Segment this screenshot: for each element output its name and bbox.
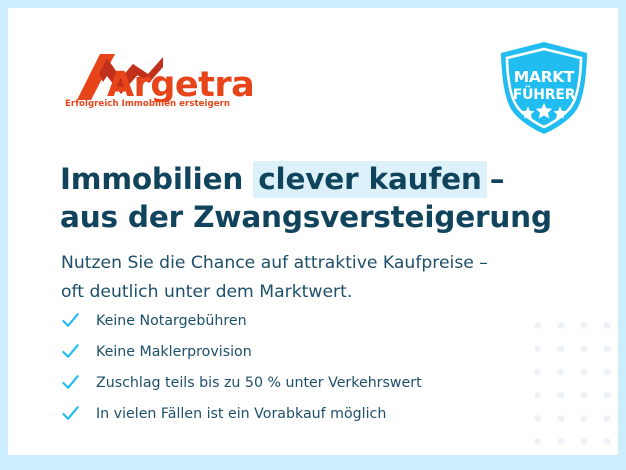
benefits-list: Keine Notargebühren Keine Maklerprovisio… <box>61 305 531 429</box>
promo-card: Argetra Erfolgreich Immobilien ersteiger… <box>8 8 618 455</box>
market-leader-badge: MARKT FÜHRER <box>497 40 591 136</box>
headline-suffix: – <box>487 162 505 196</box>
list-item: Keine Notargebühren <box>61 305 531 336</box>
list-item: In vielen Fällen ist ein Vorabkauf mögli… <box>61 398 531 429</box>
headline-line-2: aus der Zwangsversteigerung <box>60 198 580 236</box>
benefit-label: Keine Maklerprovision <box>96 344 252 360</box>
headline-highlight: clever kaufen <box>253 161 486 198</box>
check-icon <box>61 404 80 423</box>
subheadline-line-1: Nutzen Sie die Chance auf attraktive Kau… <box>61 249 581 278</box>
logo-tagline: Erfolgreich Immobilien ersteigern <box>65 99 230 109</box>
benefit-label: Zuschlag teils bis zu 50 % unter Verkehr… <box>96 375 422 391</box>
argetra-logo-icon: Argetra <box>63 52 253 102</box>
page-subtitle: Nutzen Sie die Chance auf attraktive Kau… <box>61 249 581 307</box>
headline-line-1: Immobilien clever kaufen– <box>60 160 580 198</box>
brand-logo[interactable]: Argetra Erfolgreich Immobilien ersteiger… <box>63 52 253 114</box>
promo-banner-frame: Argetra Erfolgreich Immobilien ersteiger… <box>0 0 626 470</box>
dot-pattern-decoration <box>522 308 618 455</box>
badge-line1: MARKT <box>514 68 575 86</box>
svg-text:Argetra: Argetra <box>107 65 253 102</box>
subheadline-line-2: oft deutlich unter dem Marktwert. <box>61 278 581 307</box>
benefit-label: Keine Notargebühren <box>96 313 247 329</box>
list-item: Keine Maklerprovision <box>61 336 531 367</box>
page-title: Immobilien clever kaufen– aus der Zwangs… <box>60 160 580 236</box>
badge-line2: FÜHRER <box>513 85 576 103</box>
check-icon <box>61 373 80 392</box>
check-icon <box>61 311 80 330</box>
list-item: Zuschlag teils bis zu 50 % unter Verkehr… <box>61 367 531 398</box>
benefit-label: In vielen Fällen ist ein Vorabkauf mögli… <box>96 406 386 422</box>
headline-prefix: Immobilien <box>60 162 243 196</box>
check-icon <box>61 342 80 361</box>
